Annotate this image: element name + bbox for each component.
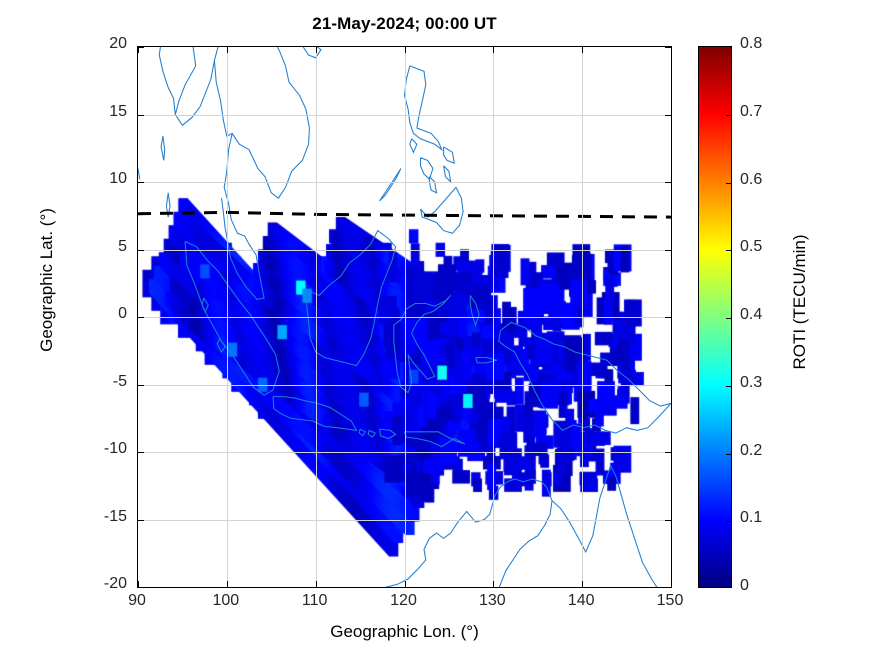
x-tick-mark bbox=[671, 47, 672, 53]
y-tick-mark bbox=[138, 115, 144, 116]
colorbar-tick-mark bbox=[726, 386, 731, 387]
y-tick-label: 10 bbox=[67, 170, 127, 188]
y-tick-mark bbox=[138, 182, 144, 183]
x-tick-label: 130 bbox=[462, 592, 522, 610]
y-tick-mark bbox=[665, 385, 671, 386]
colorbar-tick-label: 0.7 bbox=[740, 103, 762, 121]
figure-root: 21-May-2024; 00:00 UT Geographic Lon. (°… bbox=[0, 0, 875, 656]
colorbar-tick-mark bbox=[726, 183, 731, 184]
colorbar-tick-label: 0.1 bbox=[740, 509, 762, 527]
colorbar-tick-label: 0.5 bbox=[740, 238, 762, 256]
y-tick-label: 20 bbox=[67, 35, 127, 53]
colorbar-tick-mark bbox=[726, 521, 731, 522]
x-tick-mark bbox=[493, 47, 494, 53]
y-tick-mark bbox=[665, 115, 671, 116]
colorbar-tick-label: 0.2 bbox=[740, 442, 762, 460]
colorbar-tick-label: 0.8 bbox=[740, 35, 762, 53]
colorbar-tick-mark bbox=[726, 115, 731, 116]
y-tick-mark bbox=[665, 182, 671, 183]
y-tick-label: -20 bbox=[67, 575, 127, 593]
plot-area[interactable] bbox=[137, 46, 672, 588]
y-tick-mark bbox=[138, 385, 144, 386]
x-tick-mark bbox=[227, 581, 228, 587]
page-title: 21-May-2024; 00:00 UT bbox=[137, 14, 672, 34]
y-tick-mark bbox=[138, 250, 144, 251]
x-tick-mark bbox=[405, 581, 406, 587]
gridline-horizontal bbox=[138, 520, 671, 521]
y-tick-label: -15 bbox=[67, 508, 127, 526]
y-tick-label: -5 bbox=[67, 373, 127, 391]
colorbar-tick-label: 0.6 bbox=[740, 171, 762, 189]
y-tick-mark bbox=[138, 587, 144, 588]
x-axis-title: Geographic Lon. (°) bbox=[137, 622, 672, 642]
y-tick-label: 5 bbox=[67, 238, 127, 256]
colorbar-tick-label: 0 bbox=[740, 577, 749, 595]
x-tick-mark bbox=[582, 581, 583, 587]
x-tick-label: 140 bbox=[551, 592, 611, 610]
gridline-horizontal bbox=[138, 452, 671, 453]
x-tick-label: 90 bbox=[107, 592, 167, 610]
x-tick-label: 100 bbox=[196, 592, 256, 610]
y-tick-mark bbox=[138, 47, 144, 48]
colorbar-tick-label: 0.4 bbox=[740, 306, 762, 324]
y-tick-mark bbox=[138, 520, 144, 521]
gridline-horizontal bbox=[138, 182, 671, 183]
colorbar-title: ROTI (TECU/min) bbox=[790, 152, 810, 452]
gridline-horizontal bbox=[138, 115, 671, 116]
y-axis-title: Geographic Lat. (°) bbox=[37, 130, 57, 430]
y-tick-mark bbox=[138, 452, 144, 453]
gridline-horizontal bbox=[138, 250, 671, 251]
colorbar[interactable] bbox=[698, 46, 732, 588]
gridline-horizontal bbox=[138, 317, 671, 318]
y-tick-label: 0 bbox=[67, 305, 127, 323]
x-tick-mark bbox=[316, 581, 317, 587]
x-tick-mark bbox=[493, 581, 494, 587]
colorbar-tick-mark bbox=[726, 318, 731, 319]
y-tick-mark bbox=[665, 587, 671, 588]
x-tick-mark bbox=[671, 581, 672, 587]
gridline-horizontal bbox=[138, 385, 671, 386]
colorbar-tick-mark bbox=[726, 250, 731, 251]
y-tick-mark bbox=[665, 452, 671, 453]
x-tick-mark bbox=[582, 47, 583, 53]
colorbar-tick-mark bbox=[726, 454, 731, 455]
y-tick-label: 15 bbox=[67, 103, 127, 121]
x-tick-label: 120 bbox=[374, 592, 434, 610]
x-tick-mark bbox=[405, 47, 406, 53]
x-tick-label: 110 bbox=[285, 592, 345, 610]
colorbar-tick-label: 0.3 bbox=[740, 374, 762, 392]
y-tick-mark bbox=[665, 250, 671, 251]
x-tick-mark bbox=[227, 47, 228, 53]
x-tick-label: 150 bbox=[640, 592, 700, 610]
y-tick-mark bbox=[665, 520, 671, 521]
y-tick-label: -10 bbox=[67, 440, 127, 458]
y-tick-mark bbox=[665, 317, 671, 318]
y-tick-mark bbox=[138, 317, 144, 318]
colorbar-gradient bbox=[699, 47, 731, 587]
x-tick-mark bbox=[316, 47, 317, 53]
y-tick-mark bbox=[665, 47, 671, 48]
